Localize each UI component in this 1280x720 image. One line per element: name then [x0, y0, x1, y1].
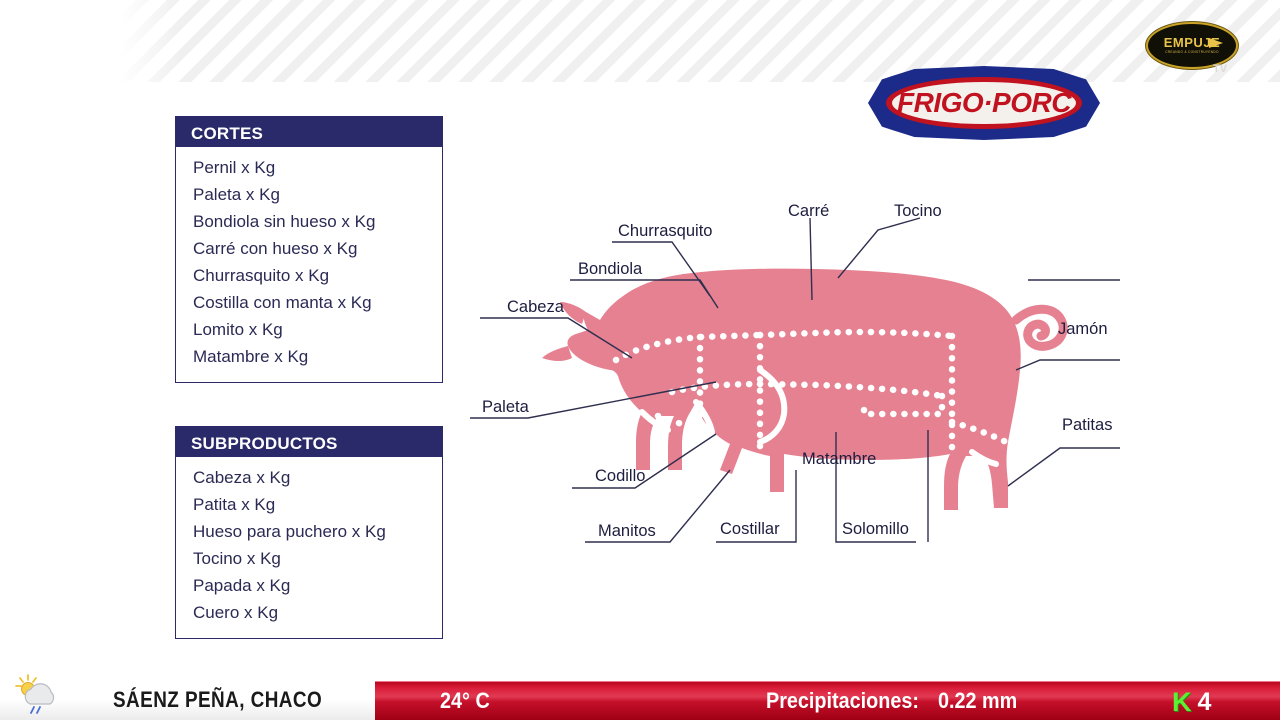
temperature-value: 24° C [440, 688, 490, 714]
panel-subproductos: SUBPRODUCTOS Cabeza x Kg Patita x Kg Hue… [175, 426, 443, 639]
pig-label-carre: Carré [788, 202, 829, 221]
list-item: Hueso para puchero x Kg [176, 518, 442, 545]
list-item: Patita x Kg [176, 491, 442, 518]
city-name-label: SÁENZ PEÑA, CHACO [113, 687, 322, 713]
pig-diagram-svg [460, 170, 1140, 570]
list-item: Churrasquito x Kg [176, 262, 442, 289]
header-stripe-band [120, 0, 1280, 82]
panel-cortes-title: CORTES [175, 116, 443, 147]
pig-label-bondiola: Bondiola [578, 260, 642, 279]
pig-label-costillar: Costillar [720, 520, 780, 539]
list-item: Lomito x Kg [176, 316, 442, 343]
list-item: Pernil x Kg [176, 154, 442, 181]
list-item: Cuero x Kg [176, 599, 442, 626]
list-item: Carré con hueso x Kg [176, 235, 442, 262]
pig-label-solomillo: Solomillo [842, 520, 909, 539]
sun-behind-rain-cloud-icon [12, 672, 68, 716]
list-item: Bondiola sin hueso x Kg [176, 208, 442, 235]
panel-subproductos-list: Cabeza x Kg Patita x Kg Hueso para puche… [175, 457, 443, 639]
channel-logo: K 4 [1172, 689, 1211, 716]
frigoporc-logo: FRIGO·PORC [868, 66, 1100, 140]
header-stripe-fade [120, 0, 180, 82]
bottom-ticker-bar: SÁENZ PEÑA, CHACO 24° C Precipitaciones:… [0, 668, 1280, 720]
pig-label-patitas: Patitas [1062, 416, 1112, 435]
pig-label-matambre: Matambre [802, 450, 876, 469]
list-item: Matambre x Kg [176, 343, 442, 370]
pig-label-manitos: Manitos [598, 522, 656, 541]
empuje-arrow-icon [1209, 38, 1223, 48]
pig-label-churrasquito: Churrasquito [618, 222, 712, 241]
pig-snout-shape [542, 346, 572, 361]
pig-label-tocino: Tocino [894, 202, 942, 221]
frigoporc-logo-plate: FRIGO·PORC [892, 82, 1076, 124]
pig-tail-shape [1016, 309, 1063, 346]
panel-cortes: CORTES Pernil x Kg Paleta x Kg Bondiola … [175, 116, 443, 383]
list-item: Tocino x Kg [176, 545, 442, 572]
list-item: Paleta x Kg [176, 181, 442, 208]
pig-label-jamon: Jamón [1058, 320, 1108, 339]
empuje-tv-logo: EMPUJE CREANDO & CONSTRUYENDO [1146, 22, 1238, 69]
channel-letter: K [1172, 689, 1192, 716]
channel-number: 4 [1198, 690, 1212, 715]
frigoporc-logo-text: FRIGO·PORC [897, 87, 1071, 119]
list-item: Costilla con manta x Kg [176, 289, 442, 316]
panel-cortes-list: Pernil x Kg Paleta x Kg Bondiola sin hue… [175, 147, 443, 383]
empuje-tv-label: TV [1213, 63, 1227, 75]
empuje-logo-tagline: CREANDO & CONSTRUYENDO [1165, 51, 1219, 54]
list-item: Cabeza x Kg [176, 464, 442, 491]
list-item: Papada x Kg [176, 572, 442, 599]
precipitation-value: 0.22 mm [938, 688, 1017, 714]
pig-label-cabeza: Cabeza [507, 298, 564, 317]
precipitation-label: Precipitaciones: [766, 688, 919, 714]
pig-label-codillo: Codillo [595, 467, 645, 486]
pig-cuts-diagram: Churrasquito Carré Tocino Bondiola Cabez… [460, 170, 1140, 570]
panel-subproductos-title: SUBPRODUCTOS [175, 426, 443, 457]
pig-label-paleta: Paleta [482, 398, 529, 417]
